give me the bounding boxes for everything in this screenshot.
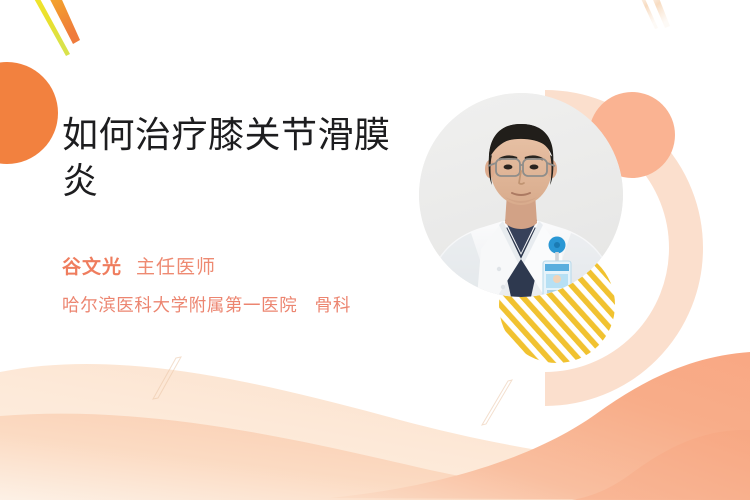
page-title: 如何治疗膝关节滑膜炎 [62,112,412,204]
coat-button-1 [497,267,501,271]
portrait-illustration [419,93,623,297]
doctor-hospital: 哈尔滨医科大学附属第一医院 [62,295,297,315]
eye-right [530,165,539,170]
doctor-department: 骨科 [315,295,351,315]
doctor-professional-title: 主任医师 [136,252,216,279]
badge-reel-center [554,242,560,248]
doctor-portrait [419,93,623,297]
doctor-identity-line: 谷文光 主任医师 [62,252,412,279]
eye-left [504,165,513,170]
portrait-disc-background [419,93,623,297]
coat-button-2 [501,285,505,289]
doctor-affiliation-line: 哈尔滨医科大学附属第一医院 骨科 [62,292,412,317]
doctor-name: 谷文光 [62,252,122,279]
badge-id-card [543,261,571,297]
video-cover-card: 如何治疗膝关节滑膜炎 谷文光 主任医师 哈尔滨医科大学附属第一医院 骨科 [0,0,750,500]
text-content-block: 如何治疗膝关节滑膜炎 谷文光 主任医师 哈尔滨医科大学附属第一医院 骨科 [62,112,412,317]
